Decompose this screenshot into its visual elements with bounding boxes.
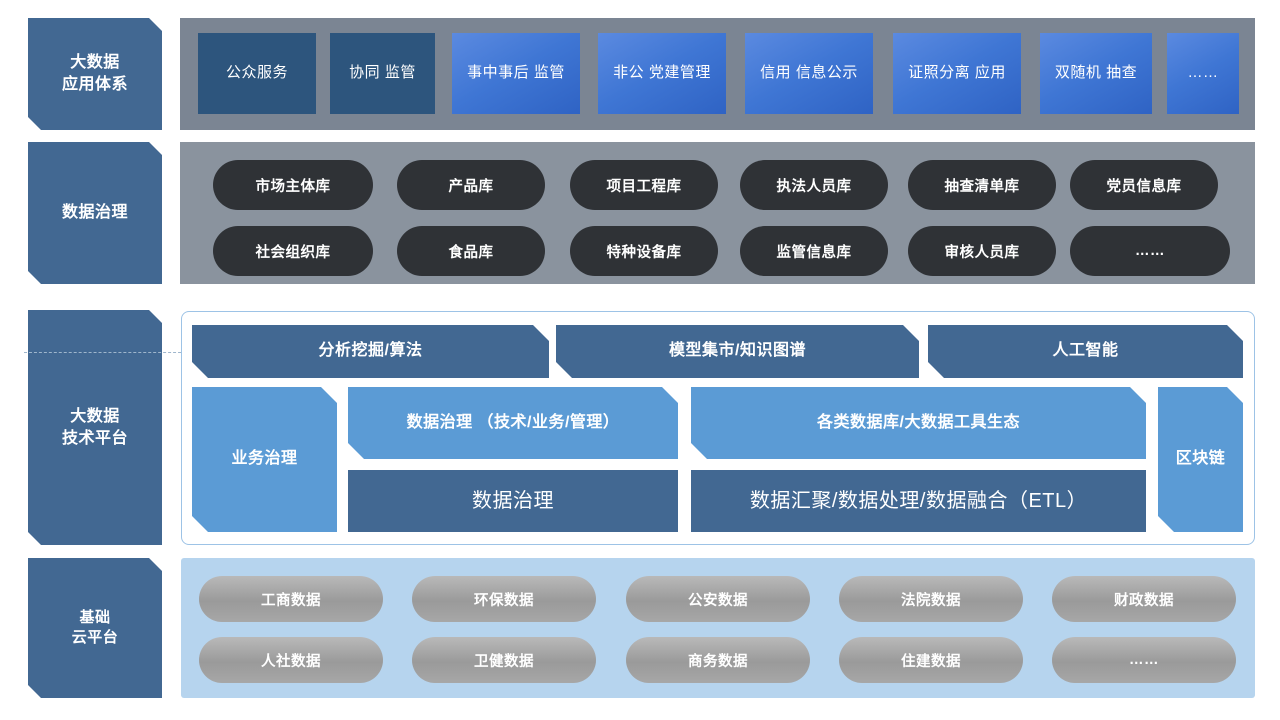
db-pill-law-enforcement-personnel[interactable]: 执法人员库 [740,160,888,210]
app-tile-label-line2: 应用 [975,64,1006,81]
cloud-pill-more[interactable]: …… [1052,637,1236,683]
cloud-pill-fiscal-data[interactable]: 财政数据 [1052,576,1236,622]
cloud-pill-housing-construction-data[interactable]: 住建数据 [839,637,1023,683]
db-pill-market-entity[interactable]: 市场主体库 [213,160,373,210]
cloud-pill-label: …… [1129,652,1159,668]
db-pill-inspection-list[interactable]: 抽查清单库 [908,160,1056,210]
db-pill-special-equipment[interactable]: 特种设备库 [570,226,718,276]
app-tile-non-public-party-building[interactable]: 非公 党建管理 [598,33,726,114]
app-tile-label-line1: 信用 [760,64,791,81]
tech-block-label: 数据汇聚/数据处理/数据融合（ETL） [750,488,1087,514]
app-tile-label-line2: 抽查 [1106,64,1137,81]
db-pill-label: 审核人员库 [945,241,1020,262]
app-tile-more[interactable]: …… [1167,33,1239,114]
app-tile-license-separation[interactable]: 证照分离 应用 [893,33,1021,114]
cloud-pill-environmental-data[interactable]: 环保数据 [412,576,596,622]
app-tile-label-line1: 非公 [613,64,644,81]
cloud-pill-label: 财政数据 [1114,589,1174,610]
category-label-application-line1: 大数据 [62,52,128,74]
tech-block-label: 分析挖掘/算法 [319,341,423,362]
tech-block-analysis-mining-algorithms[interactable]: 分析挖掘/算法 [192,325,549,378]
db-pill-label: 党员信息库 [1107,175,1182,196]
app-tile-in-and-post-event-supervision[interactable]: 事中事后 监管 [452,33,580,114]
app-tile-label-line1: 事中事后 [467,64,529,81]
cloud-pill-label: 人社数据 [261,650,321,671]
category-label-cloud-platform: 基础 云平台 [28,558,162,698]
tech-block-data-governance-tbm[interactable]: 数据治理 （技术/业务/管理） [348,387,678,459]
db-pill-more[interactable]: …… [1070,226,1230,276]
cloud-pill-health-data[interactable]: 卫健数据 [412,637,596,683]
db-pill-audit-personnel[interactable]: 审核人员库 [908,226,1056,276]
app-tile-public-service[interactable]: 公众服务 [198,33,316,114]
category-label-cloud-platform-line2: 云平台 [72,628,119,648]
db-pill-food[interactable]: 食品库 [397,226,545,276]
cloud-pill-label: 住建数据 [901,650,961,671]
category-label-tech-platform: 大数据 技术平台 [28,310,162,545]
db-pill-label: …… [1135,243,1165,259]
category-label-data-governance: 数据治理 [28,142,162,284]
tech-block-artificial-intelligence[interactable]: 人工智能 [928,325,1243,378]
tech-block-label: 各类数据库/大数据工具生态 [817,413,1020,434]
app-tile-double-random-inspection[interactable]: 双随机 抽查 [1040,33,1152,114]
cloud-pill-label: 公安数据 [688,589,748,610]
category-label-application-line2: 应用体系 [62,74,128,96]
cloud-pill-label: 法院数据 [901,589,961,610]
db-pill-label: 产品库 [449,175,494,196]
cloud-pill-commerce-data[interactable]: 商务数据 [626,637,810,683]
db-pill-social-organization[interactable]: 社会组织库 [213,226,373,276]
app-tile-label-line1: 协同 [349,64,380,81]
tech-block-label: 人工智能 [1052,341,1118,362]
category-label-data-governance-line1: 数据治理 [62,202,128,224]
tech-block-business-governance[interactable]: 业务治理 [192,387,337,532]
db-pill-label: 食品库 [449,241,494,262]
tech-block-blockchain[interactable]: 区块链 [1158,387,1243,532]
db-pill-label: 市场主体库 [256,175,331,196]
app-tile-label-line2: 监管 [534,64,565,81]
category-label-application: 大数据 应用体系 [28,18,162,130]
app-tile-collaborative-supervision[interactable]: 协同 监管 [330,33,435,114]
tech-block-label: 业务治理 [231,449,297,470]
cloud-pill-court-data[interactable]: 法院数据 [839,576,1023,622]
category-label-tech-platform-line1: 大数据 [62,406,128,428]
db-pill-label: 特种设备库 [607,241,682,262]
db-pill-label: 项目工程库 [607,175,682,196]
cloud-pill-industry-commerce-data[interactable]: 工商数据 [199,576,383,622]
db-pill-label: 社会组织库 [256,241,331,262]
tech-block-label-line1: 数据治理 [407,414,473,431]
app-tile-label-line1: 公众服务 [226,64,288,81]
tech-block-label: 模型集市/知识图谱 [669,341,806,362]
app-tile-label-line1: 证照分离 [908,64,970,81]
architecture-diagram: 大数据 应用体系 公众服务 协同 监管 事中事后 监管 非公 党建管理 信用 信… [0,0,1280,720]
app-tile-label-line1: 双随机 [1055,64,1102,81]
dashed-connector [24,352,186,353]
db-pill-label: 抽查清单库 [945,175,1020,196]
tech-block-model-marketplace-knowledge-graph[interactable]: 模型集市/知识图谱 [556,325,919,378]
cloud-pill-human-resources-social-security-data[interactable]: 人社数据 [199,637,383,683]
cloud-pill-public-security-data[interactable]: 公安数据 [626,576,810,622]
app-tile-label-line2: 信息公示 [796,64,858,81]
cloud-pill-label: 工商数据 [261,589,321,610]
db-pill-product[interactable]: 产品库 [397,160,545,210]
category-label-tech-platform-line2: 技术平台 [62,428,128,450]
db-pill-label: 执法人员库 [777,175,852,196]
cloud-pill-label: 环保数据 [474,589,534,610]
cloud-pill-label: 商务数据 [688,650,748,671]
tech-block-label: 区块链 [1176,449,1226,470]
tech-block-label-line2: （技术/业务/管理） [478,414,620,431]
app-tile-label-line2: 监管 [385,64,416,81]
db-pill-project-engineering[interactable]: 项目工程库 [570,160,718,210]
db-pill-party-member-info[interactable]: 党员信息库 [1070,160,1218,210]
db-pill-label: 监管信息库 [777,241,852,262]
app-tile-credit-information-disclosure[interactable]: 信用 信息公示 [745,33,873,114]
app-tile-label-line2: 党建管理 [649,64,711,81]
tech-block-data-governance[interactable]: 数据治理 [348,470,678,532]
app-tile-label-line1: …… [1188,64,1219,81]
tech-block-etl[interactable]: 数据汇聚/数据处理/数据融合（ETL） [691,470,1146,532]
db-pill-supervision-info[interactable]: 监管信息库 [740,226,888,276]
category-label-cloud-platform-line1: 基础 [72,608,119,628]
cloud-pill-label: 卫健数据 [474,650,534,671]
tech-block-database-bigdata-tool-ecosystem[interactable]: 各类数据库/大数据工具生态 [691,387,1146,459]
tech-block-label: 数据治理 [472,488,554,514]
